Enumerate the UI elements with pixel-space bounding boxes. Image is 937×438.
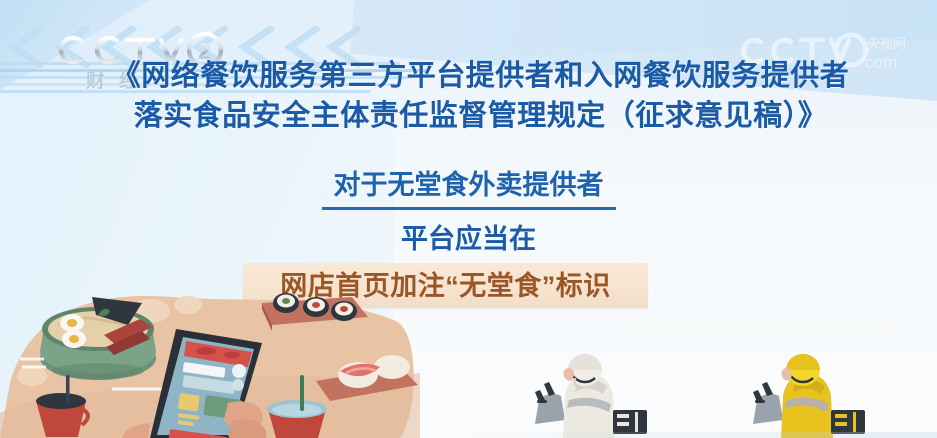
headline-line-1: 《网络餐饮服务第三方平台提供者和入网餐饮服务提供者 xyxy=(0,56,937,96)
headline-line-2: 落实食品安全主体责任监督管理规定（征求意见稿）》 xyxy=(0,96,937,136)
requirement-line: 平台应当在 xyxy=(0,222,937,256)
headline-block: 《网络餐饮服务第三方平台提供者和入网餐饮服务提供者 落实食品安全主体责任监督管理… xyxy=(0,56,937,136)
food-delivery-illustration xyxy=(0,263,420,438)
delivery-rider-white xyxy=(535,354,647,438)
ground-shadow xyxy=(420,432,937,438)
svg-text:央视网: 央视网 xyxy=(867,36,906,51)
broadcast-screen: 2 财经 央视网 com 《网络餐饮服务第三方平台提供者和入网餐饮服务提供者 落… xyxy=(0,0,937,438)
body-text-block: 对于无堂食外卖提供者 平台应当在 xyxy=(0,168,937,256)
condition-line: 对于无堂食外卖提供者 xyxy=(322,168,616,210)
delivery-rider-yellow xyxy=(753,354,865,438)
delivery-riders-illustration xyxy=(517,348,937,438)
